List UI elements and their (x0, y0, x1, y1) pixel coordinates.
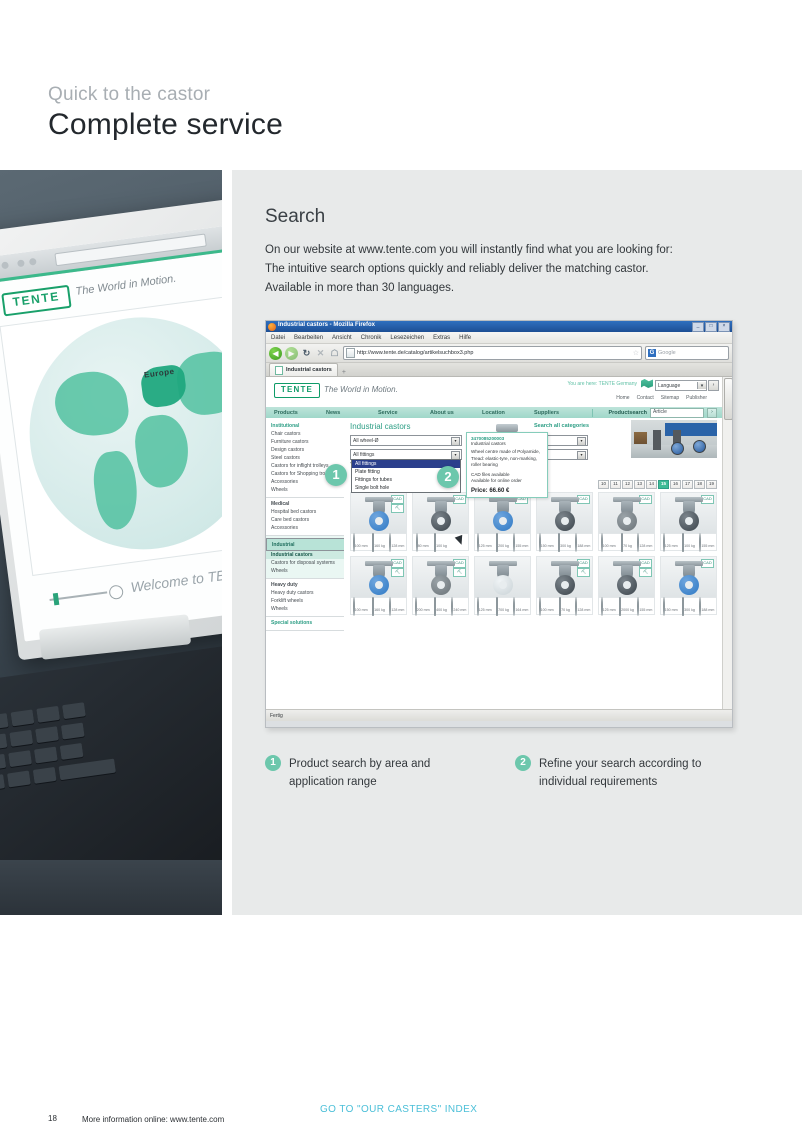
load-icon (434, 533, 436, 552)
spec-height-value: 188 mm (701, 608, 714, 612)
spec-diameter-value: 200 mm (417, 608, 430, 612)
spec-load: 700 kg (493, 598, 511, 614)
photo-tente-logo: TENTE (1, 285, 71, 317)
spec-load-value: 100 kg (436, 544, 447, 548)
spec-diameter-value: 80 mm (418, 544, 429, 548)
footer-info: More information online: www.tente.com (82, 1115, 224, 1124)
chevron-down-icon: ▾ (451, 437, 460, 446)
height-icon (637, 597, 639, 616)
castor-illustration (362, 561, 396, 595)
photo-key (9, 730, 33, 747)
product-card[interactable]: CAD ⛏ (350, 556, 407, 615)
product-image: CAD (413, 493, 468, 533)
product-card[interactable]: CAD ⛏ (598, 556, 655, 615)
product-card[interactable]: CAD ⛏ (350, 492, 407, 551)
spec-load-value: 70 kg (561, 608, 570, 612)
diameter-icon (477, 533, 479, 552)
castor-illustration (548, 561, 582, 595)
page-number: 18 (48, 1114, 57, 1123)
height-icon (389, 597, 391, 616)
spec-height-value: 240 mm (453, 608, 466, 612)
product-card[interactable]: CAD 150 (660, 556, 717, 615)
page-title: Complete service (48, 108, 283, 142)
sidebar-item-care-bed-castors[interactable]: Care bed castors (266, 516, 344, 524)
nav-item-products[interactable]: Products (274, 410, 326, 416)
photo-globe-icon (108, 584, 124, 600)
footer-index-link[interactable]: GO TO "OUR CASTERS" INDEX (320, 1104, 477, 1115)
castor-illustration (486, 497, 520, 531)
sidebar-group-medical: Medical Hospital bed castors Care bed ca… (266, 498, 344, 536)
menu-item-bearbeiten[interactable]: Bearbeiten (294, 335, 323, 341)
spec-height: 164 mm (512, 598, 530, 614)
load-icon (682, 597, 684, 616)
top-link-publisher[interactable]: Publisher (686, 395, 707, 401)
spec-load-value: 2000 kg (621, 608, 634, 612)
spec-diameter: 150 mm (661, 598, 679, 614)
trolley-wheel-1 (693, 440, 706, 453)
spec-load-value: 100 kg (684, 544, 695, 548)
photo-key-space (59, 759, 116, 781)
callout-2-text: Refine your search according to individu… (539, 755, 733, 791)
load-icon (372, 533, 374, 552)
menu-item-lesezeichen[interactable]: Lesezeichen (390, 335, 424, 341)
spec-load: 100 kg (679, 534, 697, 550)
photo-key (36, 706, 60, 723)
sidebar-item-industrial-castors[interactable]: Industrial castors (266, 551, 344, 559)
spec-diameter-value: 100 mm (355, 608, 368, 612)
spec-diameter: 100 mm (537, 598, 555, 614)
castor-hub (437, 517, 445, 525)
spec-height-value: 128 mm (639, 544, 652, 548)
overlay-badge-1: 1 (325, 464, 347, 486)
sidebar-item-disposal-systems[interactable]: Castors for disposal systems (266, 559, 344, 567)
castor-illustration (672, 497, 706, 531)
spec-load-value: 300 kg (684, 608, 695, 612)
spec-height: 240 mm (450, 598, 468, 614)
height-icon (575, 533, 577, 552)
diameter-icon (601, 597, 603, 616)
nav-divider (592, 409, 593, 417)
product-card[interactable]: CAD 150 (536, 492, 593, 551)
height-icon (513, 597, 515, 616)
castor-hub (561, 517, 569, 525)
language-select[interactable]: Language ▾ (655, 380, 707, 391)
section-body: On our website at www.tente.com you will… (265, 241, 675, 298)
product-specs: 200 mm 400 kg 240 mm (413, 597, 468, 614)
spec-height: 155 mm (636, 598, 654, 614)
spec-height-value: 155 mm (701, 544, 714, 548)
spec-load-value: 400 kg (436, 608, 447, 612)
back-icon[interactable]: ◀ (269, 347, 282, 360)
castor-illustration (362, 497, 396, 531)
photo-key (62, 702, 86, 719)
site-slogan: The World in Motion. (324, 385, 398, 394)
spec-diameter: 100 mm (351, 598, 369, 614)
bookmark-star-icon[interactable]: ☆ (633, 349, 639, 357)
product-specs: 125 mm 2000 kg 155 mm (599, 597, 654, 614)
spec-diameter-value: 150 mm (665, 608, 678, 612)
spec-load: 100 kg (431, 534, 449, 550)
trolley-wheel-2 (671, 442, 684, 455)
top-link-contact[interactable]: Contact (637, 395, 654, 401)
load-icon (619, 597, 621, 616)
tooltip-category: Industrial castors (471, 441, 543, 446)
page-15-current[interactable]: 15 (658, 480, 669, 489)
product-image (475, 557, 530, 597)
spec-diameter-value: 100 mm (603, 544, 616, 548)
callout-1-text: Product search by area and application r… (289, 755, 483, 791)
product-specs: 125 mm 700 kg 164 mm (475, 597, 530, 614)
site-logo[interactable]: TENTE (274, 383, 320, 398)
spec-diameter: 80 mm (413, 534, 431, 550)
tab-favicon (275, 366, 283, 375)
product-specs: 125 mm 100 kg 155 mm (661, 533, 716, 550)
menu-item-ansicht[interactable]: Ansicht (332, 335, 352, 341)
spec-load: 200 kg (493, 534, 511, 550)
sidebar-heading-medical[interactable]: Medical (266, 500, 344, 508)
nav-item-service[interactable]: Service (378, 410, 430, 416)
spec-height-value: 155 mm (515, 544, 528, 548)
photo-key (0, 774, 5, 791)
tooltip-description: Wheel centre made of Polyamide, Tread: e… (471, 449, 543, 469)
photo-key (8, 750, 32, 767)
browser-tab-strip: Industrial castors + (266, 363, 732, 377)
callout-captions: 1 Product search by area and application… (265, 755, 765, 791)
language-select-value: Language (658, 382, 680, 390)
sidebar-group-special-solutions: Special solutions (266, 617, 344, 631)
sidebar-item-forklift-wheels[interactable]: Forklift wheels (266, 597, 344, 605)
stop-icon[interactable]: ✕ (315, 347, 326, 360)
spec-load-value: 70 kg (623, 544, 632, 548)
status-text: Fertig (270, 713, 283, 719)
page-14[interactable]: 14 (646, 480, 657, 489)
photo-key (60, 743, 84, 760)
spec-diameter: 100 mm (599, 534, 617, 550)
photo-slogan: The World in Motion. (75, 273, 177, 298)
spec-diameter-value: 150 mm (541, 544, 554, 548)
close-icon[interactable]: × (718, 322, 730, 332)
castor-hub (375, 581, 383, 589)
height-icon (451, 597, 453, 616)
castor-illustration (672, 561, 706, 595)
height-icon (699, 533, 701, 552)
sidebar-item-steel-castors[interactable]: Steel castors (266, 454, 344, 462)
diameter-icon (415, 597, 417, 616)
callout-1: 1 Product search by area and application… (265, 755, 483, 791)
product-grid: CAD ⛏ (350, 492, 717, 615)
site-body: Institutional Chair castors Furniture ca… (266, 418, 723, 709)
product-specs: 100 mm 160 kg 128 mm (351, 597, 406, 614)
photo-monitor-screen: TENTE The World in Motion. Europe Welcom… (0, 224, 222, 642)
product-image: CAD (475, 493, 530, 533)
top-link-home[interactable]: Home (616, 395, 629, 401)
castor-illustration (610, 561, 644, 595)
menu-item-hilfe[interactable]: Hilfe (459, 335, 471, 341)
tooltip-availability: CAD files available Available for online… (471, 472, 543, 485)
tooltip-price: Price: 66.60 € (471, 488, 543, 494)
spec-load: 300 kg (555, 534, 573, 550)
viewport-scrollbar[interactable] (722, 377, 732, 709)
scrollbar-thumb[interactable] (724, 378, 732, 420)
product-image: CAD (599, 493, 654, 533)
catalog-content: Industrial castors Search all categories (344, 418, 723, 709)
photo-key (34, 747, 58, 764)
castor-hub (623, 517, 631, 525)
nav-item-news[interactable]: News (326, 410, 378, 416)
page-19[interactable]: 19 (706, 480, 717, 489)
search-placeholder: Google (658, 350, 676, 356)
sidebar-item-hospital-bed-castors[interactable]: Hospital bed castors (266, 508, 344, 516)
photo-world-map: Europe (0, 294, 222, 576)
sidebar-heading-heavy-duty[interactable]: Heavy duty (266, 581, 344, 589)
castor-hub (375, 517, 383, 525)
spec-height: 128 mm (574, 598, 592, 614)
spec-height: 128 mm (388, 534, 406, 550)
product-specs: 125 mm 200 kg 155 mm (475, 533, 530, 550)
spec-diameter-value: 125 mm (665, 544, 678, 548)
sidebar-item-industrial-wheels[interactable]: Wheels (266, 567, 344, 575)
callout-1-number: 1 (265, 755, 281, 771)
trolley-photo (631, 420, 717, 458)
photo-key (35, 726, 59, 743)
spec-diameter: 100 mm (351, 534, 369, 550)
product-row: CAD ⛏ (350, 556, 717, 615)
product-tooltip: 3470085200003 Industrial castors Wheel c… (466, 432, 548, 498)
sidebar-item-furniture-castors[interactable]: Furniture castors (266, 438, 344, 446)
product-image: CAD (537, 493, 592, 533)
window-controls: _ □ × (692, 322, 730, 332)
diameter-icon (539, 533, 541, 552)
page-10[interactable]: 10 (598, 480, 609, 489)
reload-icon[interactable]: ↻ (301, 347, 312, 360)
photo-key (7, 771, 31, 788)
photo-key (0, 733, 7, 750)
photo-welcome-text: Welcome to TENTE Wor (130, 559, 222, 595)
firefox-icon (268, 323, 276, 331)
tooltip-online-order-line: Available for online order (471, 478, 522, 483)
photo-zoom-slider (37, 585, 122, 608)
product-card[interactable]: CAD 125 (660, 492, 717, 551)
section-title: Search (265, 206, 325, 228)
product-card[interactable]: CAD 100 (598, 492, 655, 551)
language-go-button[interactable]: › (708, 380, 719, 391)
spec-diameter-value: 100 mm (355, 544, 368, 548)
diameter-icon (601, 533, 603, 552)
home-icon[interactable]: ☖ (329, 347, 340, 360)
menu-item-datei[interactable]: Datei (271, 335, 285, 341)
menu-item-extras[interactable]: Extras (433, 335, 450, 341)
castor-hub (561, 581, 569, 589)
spec-diameter: 125 mm (475, 534, 493, 550)
load-icon (559, 597, 561, 616)
load-icon (558, 533, 560, 552)
spec-height-value: 128 mm (577, 608, 590, 612)
minimize-icon[interactable]: _ (692, 322, 704, 332)
tooltip-cad-line: CAD files available (471, 472, 510, 477)
product-photo: TENTE The World in Motion. Europe Welcom… (0, 170, 222, 915)
product-search: Productsearch Article › (608, 408, 717, 418)
spec-diameter-value: 125 mm (479, 544, 492, 548)
sidebar-heading-special-solutions[interactable]: Special solutions (266, 619, 344, 627)
load-icon (434, 597, 436, 616)
sidebar-item-design-castors[interactable]: Design castors (266, 446, 344, 454)
photo-url-bar (54, 234, 206, 267)
spec-load-value: 300 kg (560, 544, 571, 548)
product-image: CAD (661, 557, 716, 597)
load-icon (621, 533, 623, 552)
page-12[interactable]: 12 (622, 480, 633, 489)
callout-2-number: 2 (515, 755, 531, 771)
overlay-badge-2: 2 (437, 466, 459, 488)
page-kicker: Quick to the castor (48, 84, 210, 106)
select-fittings-value: All fittings (353, 452, 374, 458)
spec-diameter-value: 125 mm (479, 608, 492, 612)
castor-hub (499, 581, 507, 589)
spec-height: 128 mm (636, 534, 654, 550)
diameter-icon (353, 597, 355, 616)
height-icon (637, 533, 639, 552)
menu-item-chronik[interactable]: Chronik (361, 335, 382, 341)
castor-hub (623, 581, 631, 589)
product-image: CAD ⛏ (537, 557, 592, 597)
photo-desk (0, 860, 222, 915)
browser-window-title: Industrial castors - Mozilla Firefox (278, 322, 375, 328)
spec-height: 128 mm (388, 598, 406, 614)
site-header: TENTE The World in Motion. You are here:… (266, 377, 723, 407)
photo-browser-chrome (0, 224, 222, 285)
castor-hub (437, 581, 445, 589)
product-search-input[interactable]: Article (650, 408, 704, 418)
spec-height: 188 mm (698, 598, 716, 614)
product-card[interactable]: 125 mm 700 kg 164 mm (474, 556, 531, 615)
spec-diameter: 125 mm (661, 534, 679, 550)
load-icon (682, 533, 684, 552)
spec-load: 400 kg (431, 598, 449, 614)
castor-illustration (424, 497, 458, 531)
tooltip-castor-image (496, 424, 518, 432)
product-card[interactable]: CAD ⛏ (536, 556, 593, 615)
spec-load-value: 200 kg (498, 544, 509, 548)
spec-diameter-value: 125 mm (603, 608, 616, 612)
spec-height-value: 188 mm (577, 544, 590, 548)
tab-industrial-castors[interactable]: Industrial castors (269, 363, 338, 376)
castor-illustration (548, 497, 582, 531)
tab-label: Industrial castors (286, 367, 332, 373)
spec-height-value: 128 mm (391, 544, 404, 548)
new-tab-icon[interactable]: + (342, 369, 346, 376)
content-panel: Search On our website at www.tente.com y… (232, 170, 802, 915)
diameter-icon (663, 597, 665, 616)
product-specs: 100 mm 160 kg 128 mm (351, 533, 406, 550)
google-icon: G (648, 349, 656, 357)
filter-column-left: All wheel-Ø ▾ All fittings ▾ All fitting… (350, 435, 462, 460)
sidebar-group-heavy-duty: Heavy duty Heavy duty castors Forklift w… (266, 579, 344, 617)
top-link-sitemap[interactable]: Sitemap (661, 395, 679, 401)
sidebar-item-medical-accessories[interactable]: Accessories (266, 524, 344, 532)
diameter-icon (416, 533, 418, 552)
callout-2: 2 Refine your search according to indivi… (515, 755, 733, 791)
photo-window-dot-green (1, 261, 9, 269)
world-map-icon[interactable] (641, 379, 653, 388)
load-icon (496, 533, 498, 552)
address-bar-url: http://www.tente.de/catalog/artikelsuchb… (357, 350, 474, 356)
photo-key (61, 723, 85, 740)
castor-hub (685, 517, 693, 525)
nav-item-location[interactable]: Location (482, 410, 534, 416)
spec-load: 300 kg (679, 598, 697, 614)
diameter-icon (477, 597, 479, 616)
diameter-icon (539, 597, 541, 616)
browser-toolbar: ◀ ▶ ↻ ✕ ☖ http://www.tente.de/catalog/ar… (266, 344, 732, 363)
height-icon (389, 533, 391, 552)
load-icon (372, 597, 374, 616)
sidebar-group-institutional: Institutional Chair castors Furniture ca… (266, 420, 344, 498)
spec-load-value: 700 kg (498, 608, 509, 612)
photo-key (0, 713, 9, 730)
page-17[interactable]: 17 (682, 480, 693, 489)
select-wheel-diameter[interactable]: All wheel-Ø ▾ (350, 435, 462, 446)
spec-load-value: 160 kg (374, 544, 385, 548)
page-18[interactable]: 18 (694, 480, 705, 489)
spec-height: 155 mm (512, 534, 530, 550)
product-image: CAD ⛏ (351, 493, 406, 533)
castor-hub (685, 581, 693, 589)
spec-load: 2000 kg (617, 598, 635, 614)
sidebar-item-heavy-duty-wheels[interactable]: Wheels (266, 605, 344, 613)
nav-item-about-us[interactable]: About us (430, 410, 482, 416)
page-16[interactable]: 16 (670, 480, 681, 489)
sidebar-item-chair-castors[interactable]: Chair castors (266, 430, 344, 438)
product-card[interactable]: CAD 125 (474, 492, 531, 551)
product-specs: 100 mm 70 kg 128 mm (537, 597, 592, 614)
sidebar-item-wheels[interactable]: Wheels (266, 486, 344, 494)
load-icon (496, 597, 498, 616)
page-11[interactable]: 11 (610, 480, 621, 489)
tente-website: TENTE The World in Motion. You are here:… (266, 377, 723, 709)
nav-item-suppliers[interactable]: Suppliers (534, 410, 586, 416)
address-bar[interactable]: http://www.tente.de/catalog/artikelsuchb… (343, 346, 642, 360)
spec-diameter: 150 mm (537, 534, 555, 550)
spec-load-value: 160 kg (374, 608, 385, 612)
select-fittings[interactable]: All fittings ▾ All fittings Plate fittin… (350, 449, 462, 460)
castor-illustration (610, 497, 644, 531)
sidebar-heading-institutional[interactable]: Institutional (266, 422, 344, 430)
chevron-down-icon: ▾ (577, 451, 586, 460)
product-image: CAD ⛏ (599, 557, 654, 597)
search-bar[interactable]: G Google (645, 346, 729, 360)
diameter-icon (353, 533, 355, 552)
browser-menu-bar: Datei Bearbeiten Ansicht Chronik Lesezei… (266, 332, 732, 344)
photo-nav-dot-2 (29, 258, 37, 266)
height-icon (513, 533, 515, 552)
spec-height: 188 mm (574, 534, 592, 550)
spec-height-value: 155 mm (639, 608, 652, 612)
spec-load: 70 kg (617, 534, 635, 550)
chevron-down-icon: ▾ (697, 382, 706, 389)
page-13[interactable]: 13 (634, 480, 645, 489)
product-card-hovered[interactable]: CAD ⛏ (412, 556, 469, 615)
maximize-icon[interactable]: □ (705, 322, 717, 332)
forward-icon[interactable]: ▶ (285, 347, 298, 360)
sidebar-item-heavy-duty-castors[interactable]: Heavy duty castors (266, 589, 344, 597)
spec-load: 70 kg (555, 598, 573, 614)
category-sidebar: Institutional Chair castors Furniture ca… (266, 418, 344, 709)
browser-screenshot: Industrial castors - Mozilla Firefox _ □… (265, 320, 733, 728)
search-all-categories-link[interactable]: Search all categories (534, 423, 589, 429)
product-search-go-button[interactable]: › (707, 408, 717, 418)
castor-hub (499, 517, 507, 525)
photo-nav-dot (17, 259, 25, 267)
